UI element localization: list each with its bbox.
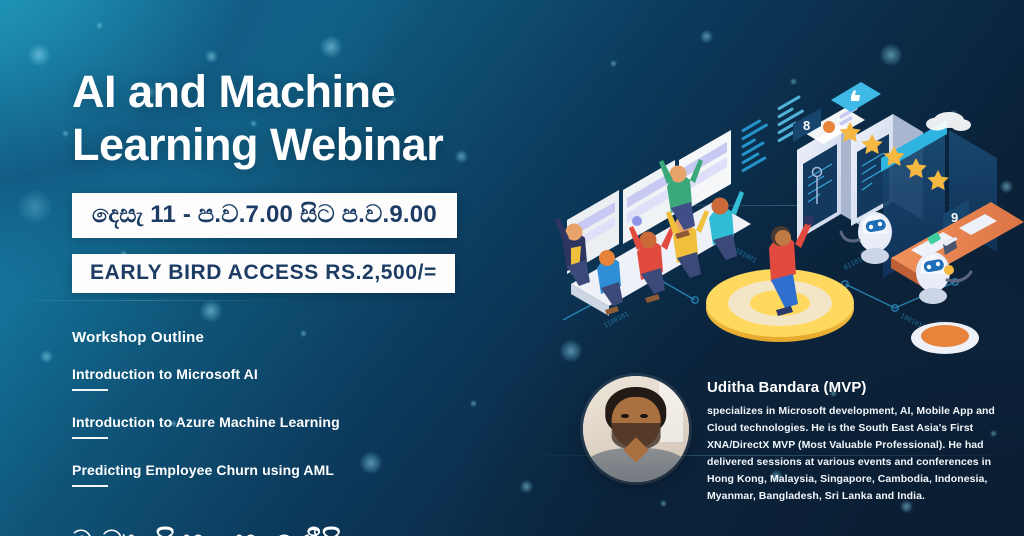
left-content: AI and Machine Learning Webinar දෙසැ 11 … bbox=[72, 66, 542, 536]
ai-conference-illustration: 0101001 1100101 0110101 1001011 bbox=[545, 72, 1024, 362]
cloud-icon bbox=[926, 112, 971, 131]
speaker-avatar bbox=[583, 376, 689, 482]
early-bird-price-badge: EARLY BIRD ACCESS RS.2,500/= bbox=[72, 254, 455, 293]
webinar-banner: 0101001 1100101 0110101 1001011 bbox=[0, 0, 1024, 536]
outline-item-underline bbox=[72, 389, 108, 391]
outline-item: Predicting Employee Churn using AML bbox=[72, 462, 542, 487]
speaker-bio: specializes in Microsoft development, AI… bbox=[707, 403, 1003, 505]
robot-two bbox=[916, 252, 971, 304]
medium-value: සිංහල හා ඉංග්‍රීසි bbox=[155, 525, 342, 536]
workshop-outline-heading: Workshop Outline bbox=[72, 329, 542, 346]
outline-item-underline bbox=[72, 485, 108, 487]
workshop-outline-list: Introduction to Microsoft AI Introductio… bbox=[72, 366, 542, 486]
outline-item-underline bbox=[72, 437, 108, 439]
speaker-details: Uditha Bandara (MVP) specializes in Micr… bbox=[707, 376, 1003, 505]
outline-item: Introduction to Azure Machine Learning bbox=[72, 414, 542, 439]
floor-dish bbox=[911, 322, 979, 354]
title-line-2: Learning Webinar bbox=[72, 119, 542, 172]
outline-item-label: Predicting Employee Churn using AML bbox=[72, 462, 542, 479]
outline-item-label: Introduction to Microsoft AI bbox=[72, 366, 542, 383]
outline-item: Introduction to Microsoft AI bbox=[72, 366, 542, 391]
speaker-block: Uditha Bandara (MVP) specializes in Micr… bbox=[583, 376, 1003, 505]
svg-text:8: 8 bbox=[803, 118, 810, 133]
page-title: AI and Machine Learning Webinar bbox=[72, 66, 542, 171]
language-medium-line: මාධ්‍ය: සිංහල හා ඉංග්‍රීසි bbox=[72, 525, 542, 536]
outline-item-label: Introduction to Azure Machine Learning bbox=[72, 414, 542, 431]
medium-label: මාධ්‍ය: bbox=[72, 525, 147, 536]
robot-one bbox=[841, 212, 892, 264]
speaker-name: Uditha Bandara (MVP) bbox=[707, 379, 1003, 396]
title-line-1: AI and Machine bbox=[72, 66, 395, 117]
thumbs-up-tile bbox=[831, 82, 881, 112]
date-time-badge: දෙසැ 11 - ප.ව.7.00 සිට ප.ව.9.00 bbox=[72, 193, 457, 238]
